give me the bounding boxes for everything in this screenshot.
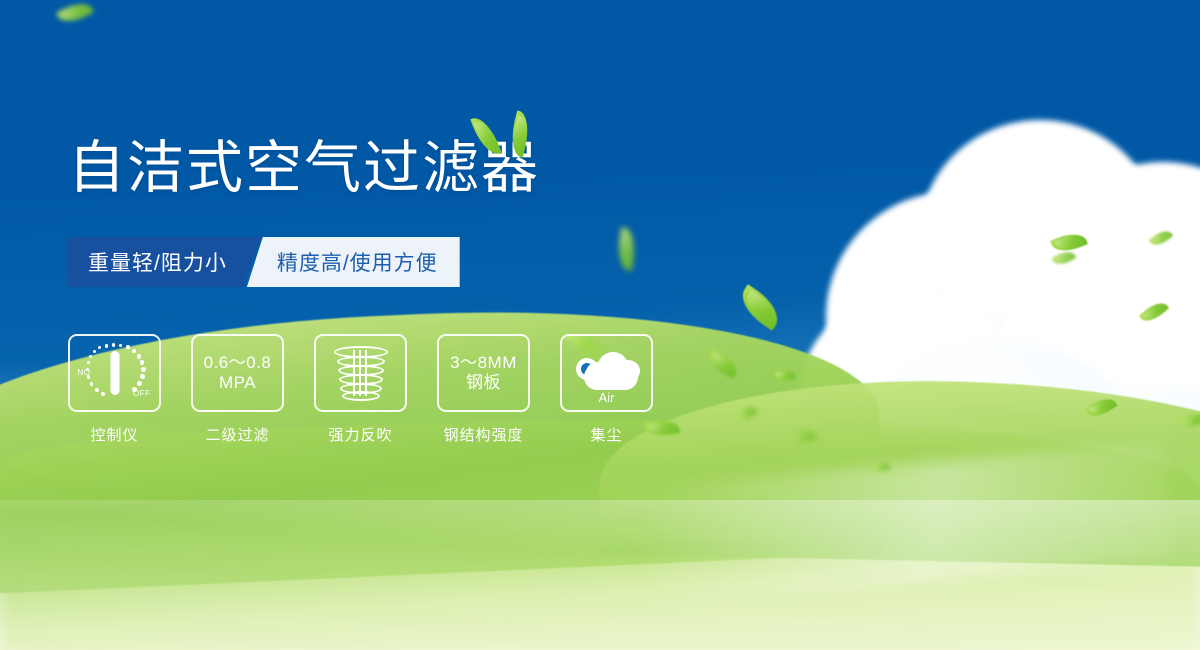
pressure-value: 0.6〜0.8 — [204, 353, 272, 373]
feature-icon-box — [314, 334, 407, 412]
page-title: 自洁式空气过滤器 — [68, 140, 540, 197]
feature-label: 二级过滤 — [205, 424, 269, 445]
air-label: Air — [568, 390, 646, 405]
feature-icon-box: NO OFF — [68, 334, 161, 412]
feature-label: 集尘 — [590, 424, 622, 445]
product-banner: 自洁式空气过滤器 重量轻/阻力小 精度高/使用方便 — [0, 0, 1200, 650]
gauge-label-off: OFF — [133, 389, 151, 398]
filter-cartridge-icon — [331, 344, 391, 402]
feature-item-steel-strength[interactable]: 3〜8MM 钢板 钢结构强度 — [437, 334, 530, 445]
feature-icon-box: Air — [560, 334, 653, 412]
subtitle-right: 精度高/使用方便 — [247, 237, 460, 287]
cloud-air-icon: Air — [568, 342, 646, 404]
subtitle-bar: 重量轻/阻力小 精度高/使用方便 — [68, 237, 460, 287]
steel-material: 钢板 — [466, 373, 501, 393]
gauge-dial-icon: NO OFF — [77, 342, 153, 404]
feature-item-dust-collection[interactable]: Air 集尘 — [560, 334, 653, 445]
feature-label: 控制仪 — [90, 424, 138, 445]
feature-label: 强力反吹 — [328, 424, 392, 445]
cloud-body — [584, 364, 638, 390]
feature-label: 钢结构强度 — [443, 424, 523, 445]
feature-item-controller[interactable]: NO OFF 控制仪 — [68, 334, 161, 445]
steel-thickness: 3〜8MM — [450, 353, 517, 373]
pressure-unit: MPA — [219, 373, 256, 393]
gauge-label-no: NO — [78, 368, 91, 377]
feature-list: NO OFF 控制仪 0.6〜0.8 MPA 二级过滤 — [68, 334, 653, 445]
feature-icon-box: 0.6〜0.8 MPA — [191, 334, 284, 412]
subtitle-left: 重量轻/阻力小 — [68, 237, 261, 287]
feature-icon-box: 3〜8MM 钢板 — [437, 334, 530, 412]
cloud-wisp — [880, 300, 970, 330]
gauge-needle — [110, 351, 119, 395]
feature-item-secondary-filter[interactable]: 0.6〜0.8 MPA 二级过滤 — [191, 334, 284, 445]
feature-item-blowback[interactable]: 强力反吹 — [314, 334, 407, 445]
